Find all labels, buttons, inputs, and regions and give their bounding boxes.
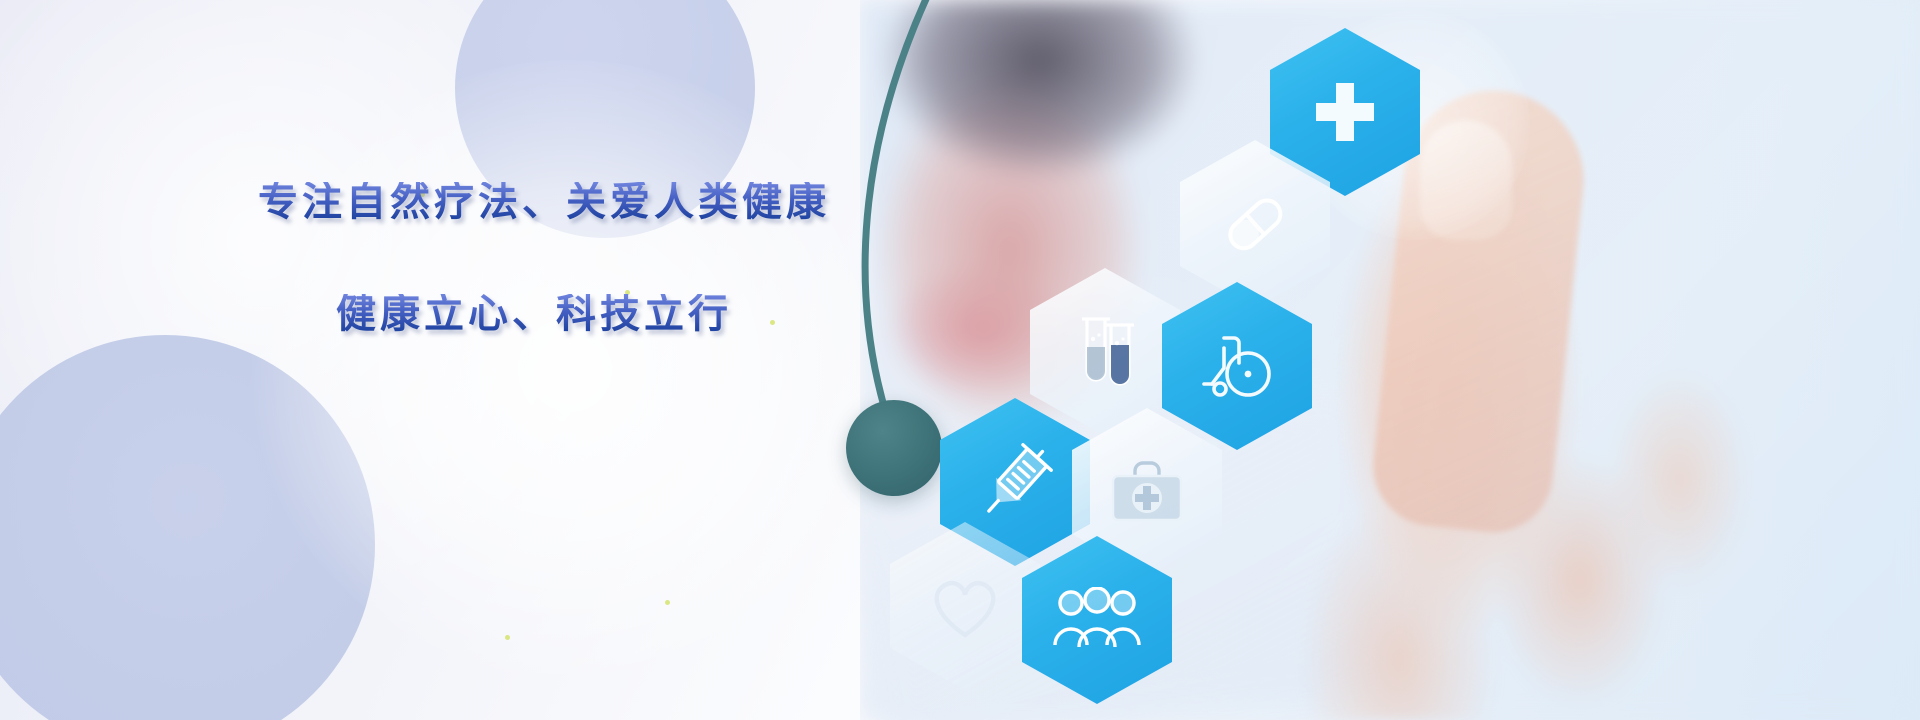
people-family-icon (1051, 587, 1143, 653)
background-glow-center (250, 60, 890, 680)
syringe-icon (972, 439, 1058, 525)
heart-icon (925, 569, 1005, 643)
wheelchair-icon (1194, 326, 1280, 406)
headline-block: 专注自然疗法、关爱人类健康 健康立心、科技立行 (258, 182, 858, 334)
medical-kit-icon (1105, 456, 1189, 528)
hex-tile-wheelchair[interactable] (1162, 282, 1312, 450)
test-tubes-icon (1069, 309, 1141, 395)
hex-tile-test-tubes[interactable] (1030, 268, 1180, 436)
headline-line-2: 健康立心、科技立行 (336, 294, 858, 334)
sparkle-dot (665, 600, 670, 605)
medical-cross-icon (1308, 75, 1382, 149)
headline-line-1: 专注自然疗法、关爱人类健康 (258, 182, 858, 222)
capsule-pill-icon (1214, 183, 1296, 265)
hero-banner: 专注自然疗法、关爱人类健康 健康立心、科技立行 (0, 0, 1920, 720)
sparkle-dot (505, 635, 510, 640)
hex-icon-cluster (900, 0, 1600, 720)
